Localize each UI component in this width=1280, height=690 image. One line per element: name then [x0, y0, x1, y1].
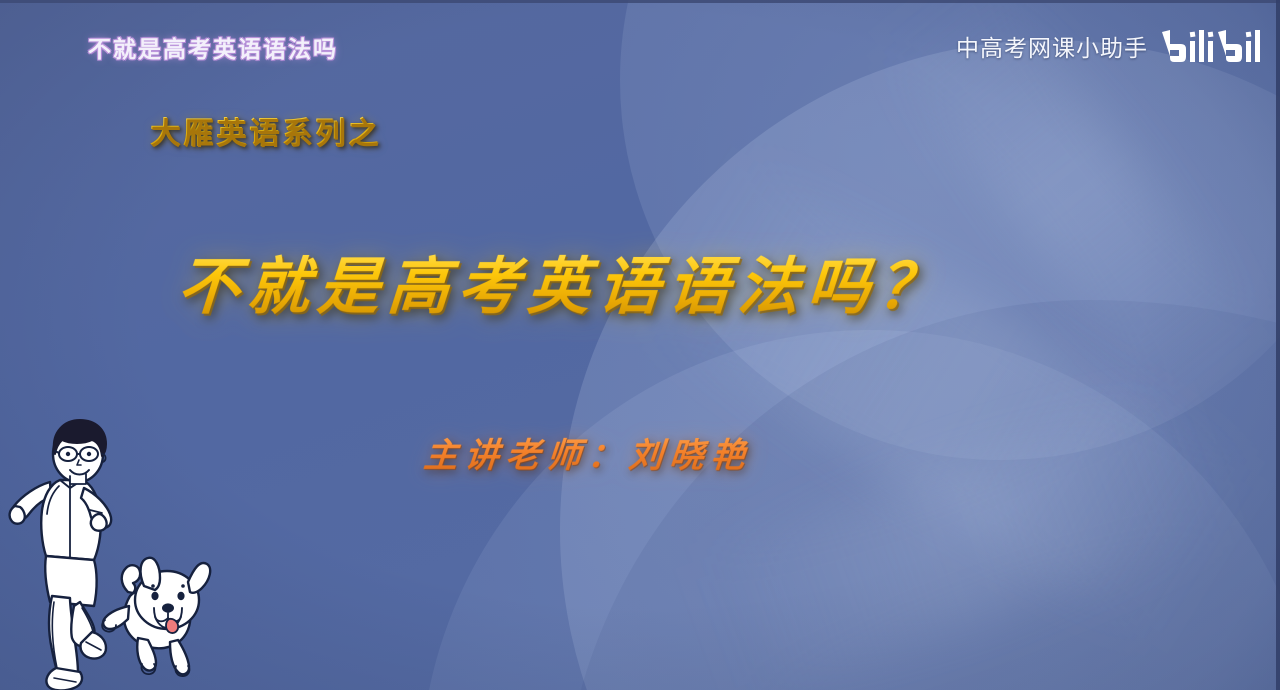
page-title: 不就是高考英语语法吗？ [175, 236, 951, 326]
boy-jogging-icon [10, 420, 112, 690]
mascot-illustration [2, 410, 212, 690]
bilibili-logo-icon [1160, 28, 1266, 64]
channel-branding: 中高考网课小助手 [956, 28, 1266, 64]
course-watermark: 不就是高考英语语法吗 [88, 30, 338, 64]
slide-top-edge [0, 0, 1280, 3]
series-label: 大雁英语系列之 [150, 108, 381, 152]
video-title-slide: 不就是高考英语语法吗 中高考网课小助手 [0, 0, 1280, 690]
dog-running-icon [102, 558, 210, 676]
instructor-label: 主讲老师：刘晓艳 [422, 428, 754, 477]
channel-name-label: 中高考网课小助手 [956, 29, 1148, 63]
slide-right-edge [1276, 0, 1280, 690]
